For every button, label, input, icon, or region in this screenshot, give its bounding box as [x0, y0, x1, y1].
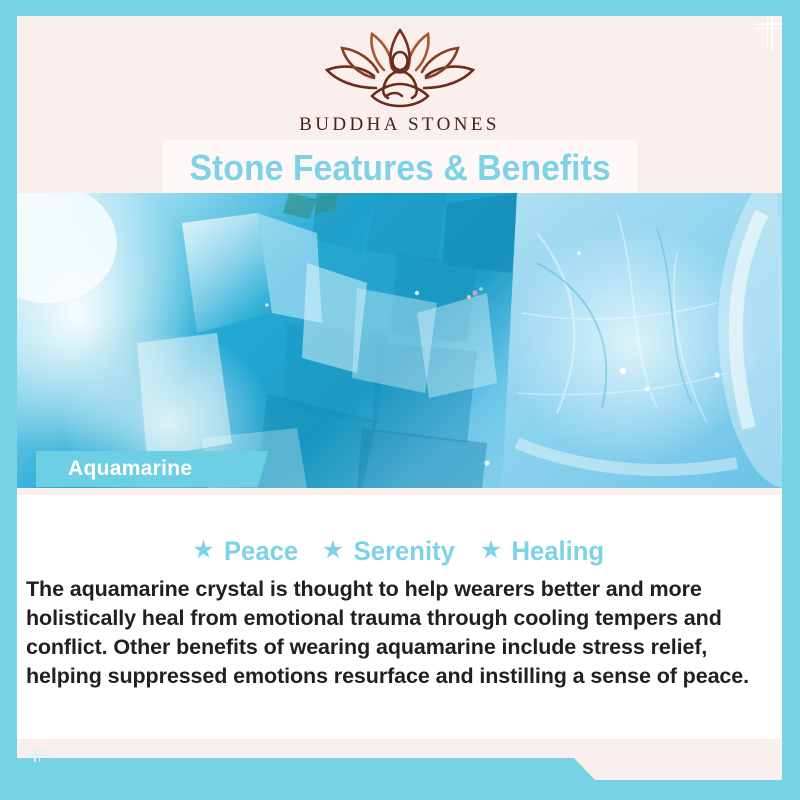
brand-logo: BUDDHA STONES [17, 26, 782, 136]
benefit-label: Healing [512, 536, 605, 567]
star-icon: ★ [192, 538, 214, 563]
description-paragraph: The aquamarine crystal is thought to hel… [26, 575, 776, 691]
brand-wordmark: BUDDHA STONES [17, 114, 782, 136]
content-panel: ★ Peace ★ Serenity ★ Healing The aquamar… [17, 495, 782, 739]
benefit-label: Serenity [354, 536, 455, 567]
star-icon: ★ [480, 538, 502, 563]
star-icon: ★ [322, 538, 344, 563]
crystal-texture [17, 193, 782, 488]
page-inner: BUDDHA STONES Stone Features & Benefits [17, 16, 782, 780]
benefit-label: Peace [224, 536, 298, 567]
stone-name-label: Aquamarine [68, 457, 192, 481]
ribbon-hairline-decoration [28, 748, 50, 762]
bottom-ribbon [0, 758, 614, 800]
benefit-item-serenity: ★ Serenity [322, 536, 458, 567]
benefit-item-healing: ★ Healing [480, 536, 607, 567]
stone-name-tag: Aquamarine [36, 451, 268, 487]
page-title: Stone Features & Benefits [189, 150, 610, 186]
poster-root: BUDDHA STONES Stone Features & Benefits [0, 0, 800, 800]
aquamarine-crystal-photo: Aquamarine [17, 193, 782, 488]
benefit-item-peace: ★ Peace [192, 536, 300, 567]
title-band: Stone Features & Benefits [163, 140, 637, 196]
lotus-meditation-icon [314, 26, 486, 112]
benefits-row: ★ Peace ★ Serenity ★ Healing [17, 536, 782, 567]
